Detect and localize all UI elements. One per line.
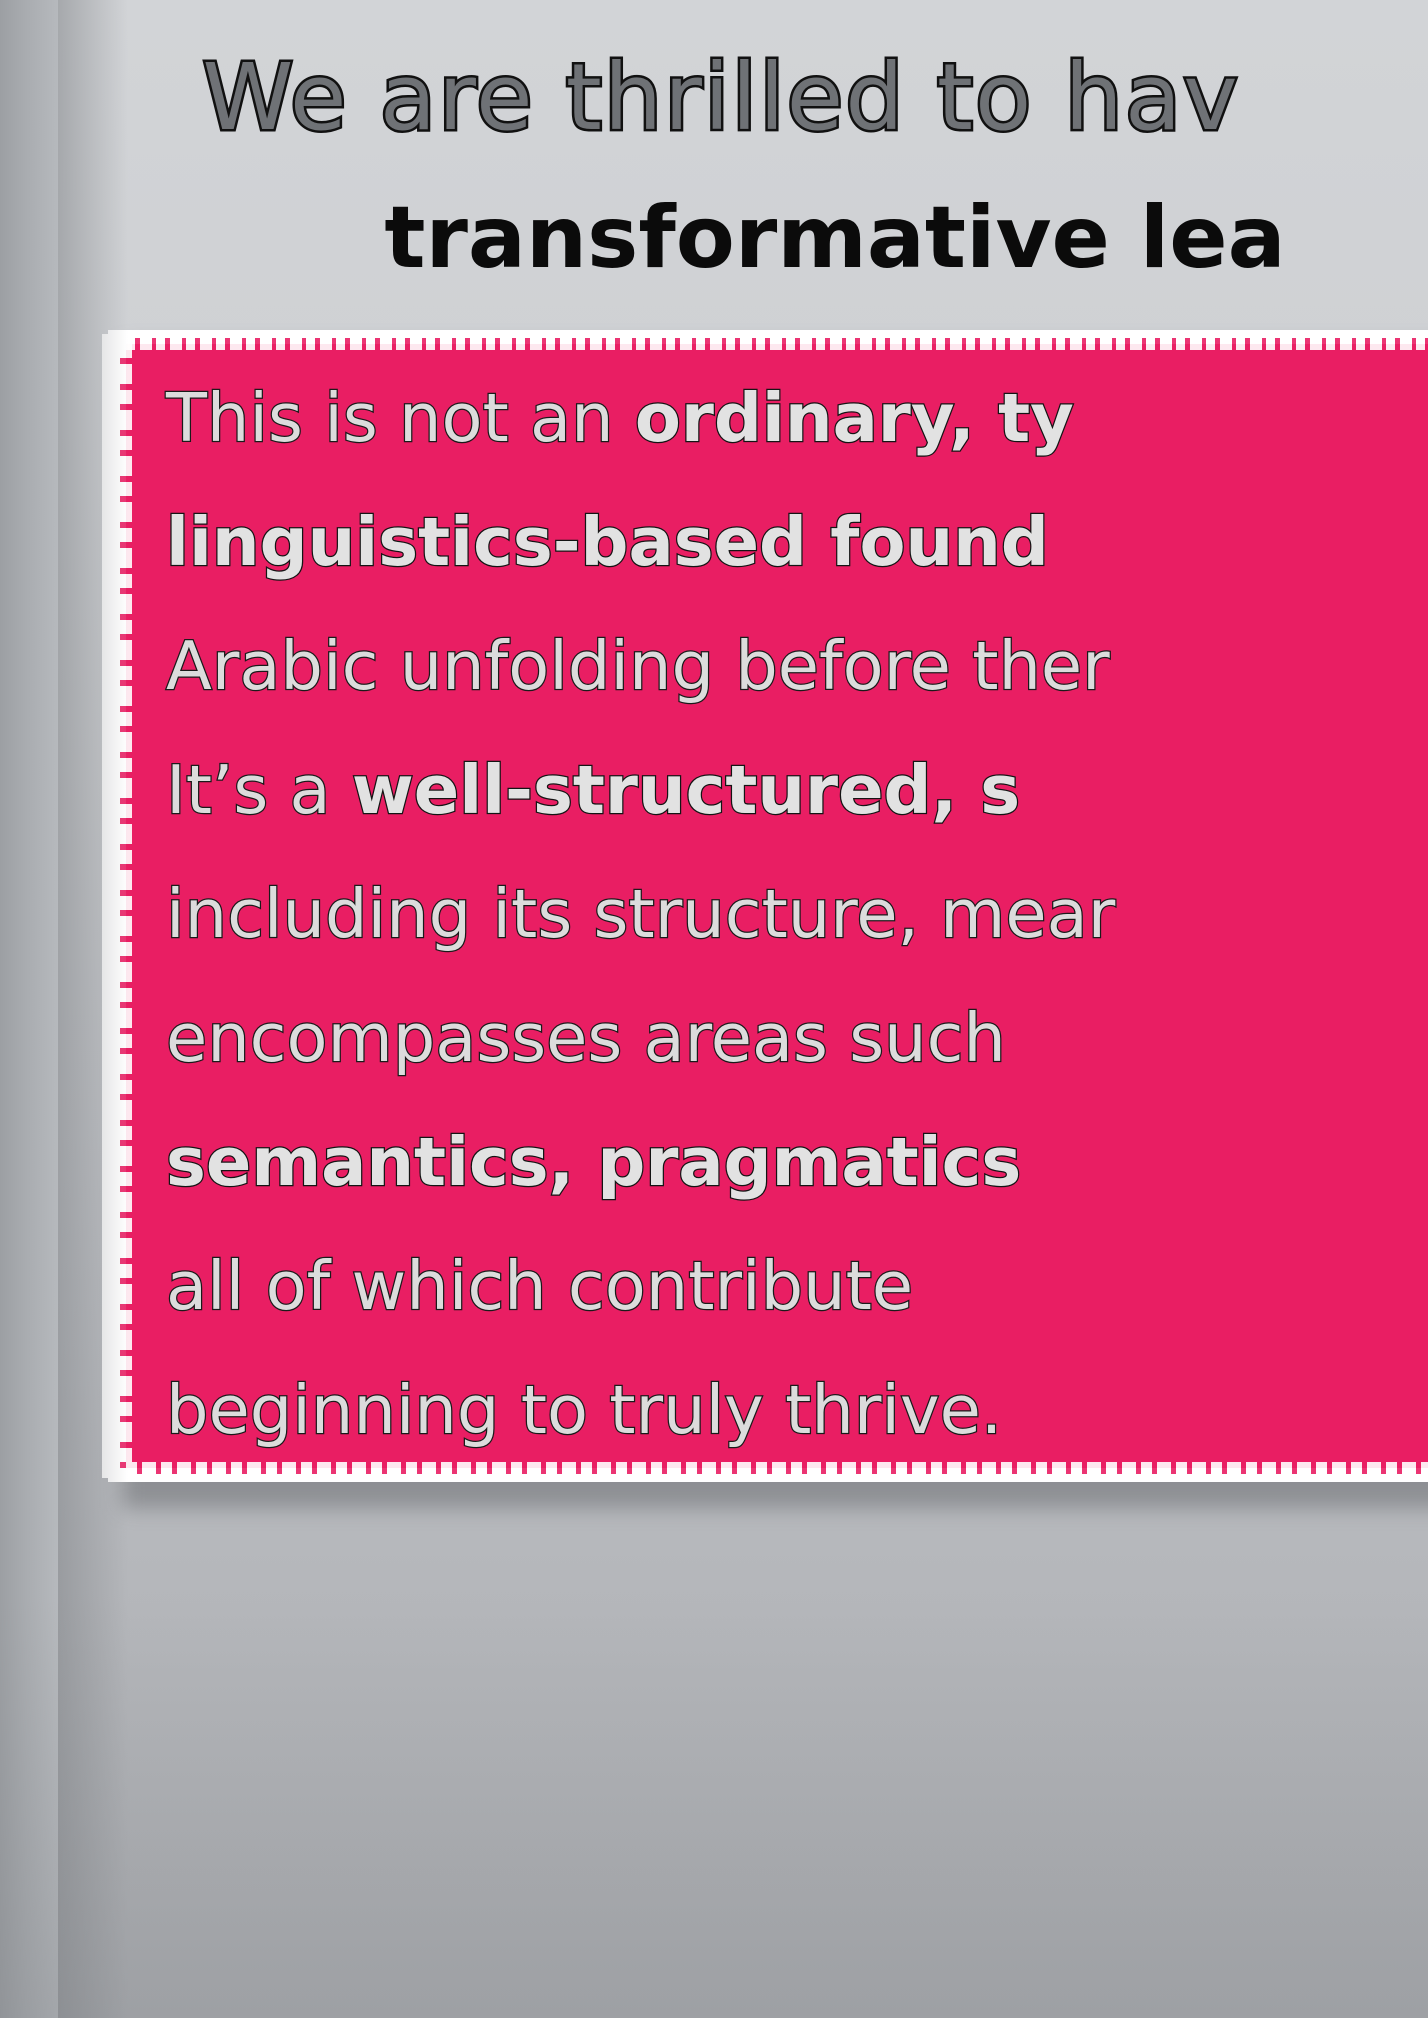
body-run-bold-2-1: linguistics-based found: [166, 503, 1049, 581]
body-line-4: It’s a well-structured, s: [166, 728, 1428, 852]
slide-heading: We are thrilled to hav transformative le…: [58, 50, 1428, 283]
body-run-bold-1-2: ordinary, ty: [635, 379, 1074, 457]
body-line-9: beginning to truly thrive.: [166, 1348, 1428, 1472]
body-line-8: all of which contribute: [166, 1224, 1428, 1348]
body-run-1-1: This is not an: [166, 379, 635, 457]
card-body-text: This is not an ordinary, tylinguistics-b…: [166, 356, 1428, 1472]
body-run-8-1: all of which contribute: [166, 1247, 913, 1325]
body-run-bold-4-2: well-structured, s: [352, 751, 1020, 829]
body-run-6-1: encompasses areas such: [166, 999, 1006, 1077]
body-run-9-1: beginning to truly thrive.: [166, 1371, 1002, 1449]
body-line-3: Arabic unfolding before ther: [166, 604, 1428, 728]
body-run-4-1: It’s a: [166, 751, 352, 829]
pink-content-card: This is not an ordinary, tylinguistics-b…: [108, 330, 1428, 1500]
heading-line-2: transformative lea: [150, 193, 1428, 283]
body-line-1: This is not an ordinary, ty: [166, 356, 1428, 480]
bottom-vignette: [0, 1598, 1428, 2018]
body-run-5-1: including its structure, mear: [166, 875, 1115, 953]
body-run-bold-7-1: semantics, pragmatics: [166, 1123, 1021, 1201]
slide-canvas: We are thrilled to hav transformative le…: [0, 0, 1428, 2018]
slide-left-gutter: [0, 0, 58, 2018]
heading-line-1: We are thrilled to hav: [36, 50, 1406, 147]
body-line-6: encompasses areas such: [166, 976, 1428, 1100]
body-line-5: including its structure, mear: [166, 852, 1428, 976]
card-rough-edge-left: [120, 344, 132, 1468]
body-line-7: semantics, pragmatics: [166, 1100, 1428, 1224]
body-run-3-1: Arabic unfolding before ther: [166, 627, 1110, 705]
card-rough-edge-top: [126, 338, 1428, 350]
body-line-2: linguistics-based found: [166, 480, 1428, 604]
